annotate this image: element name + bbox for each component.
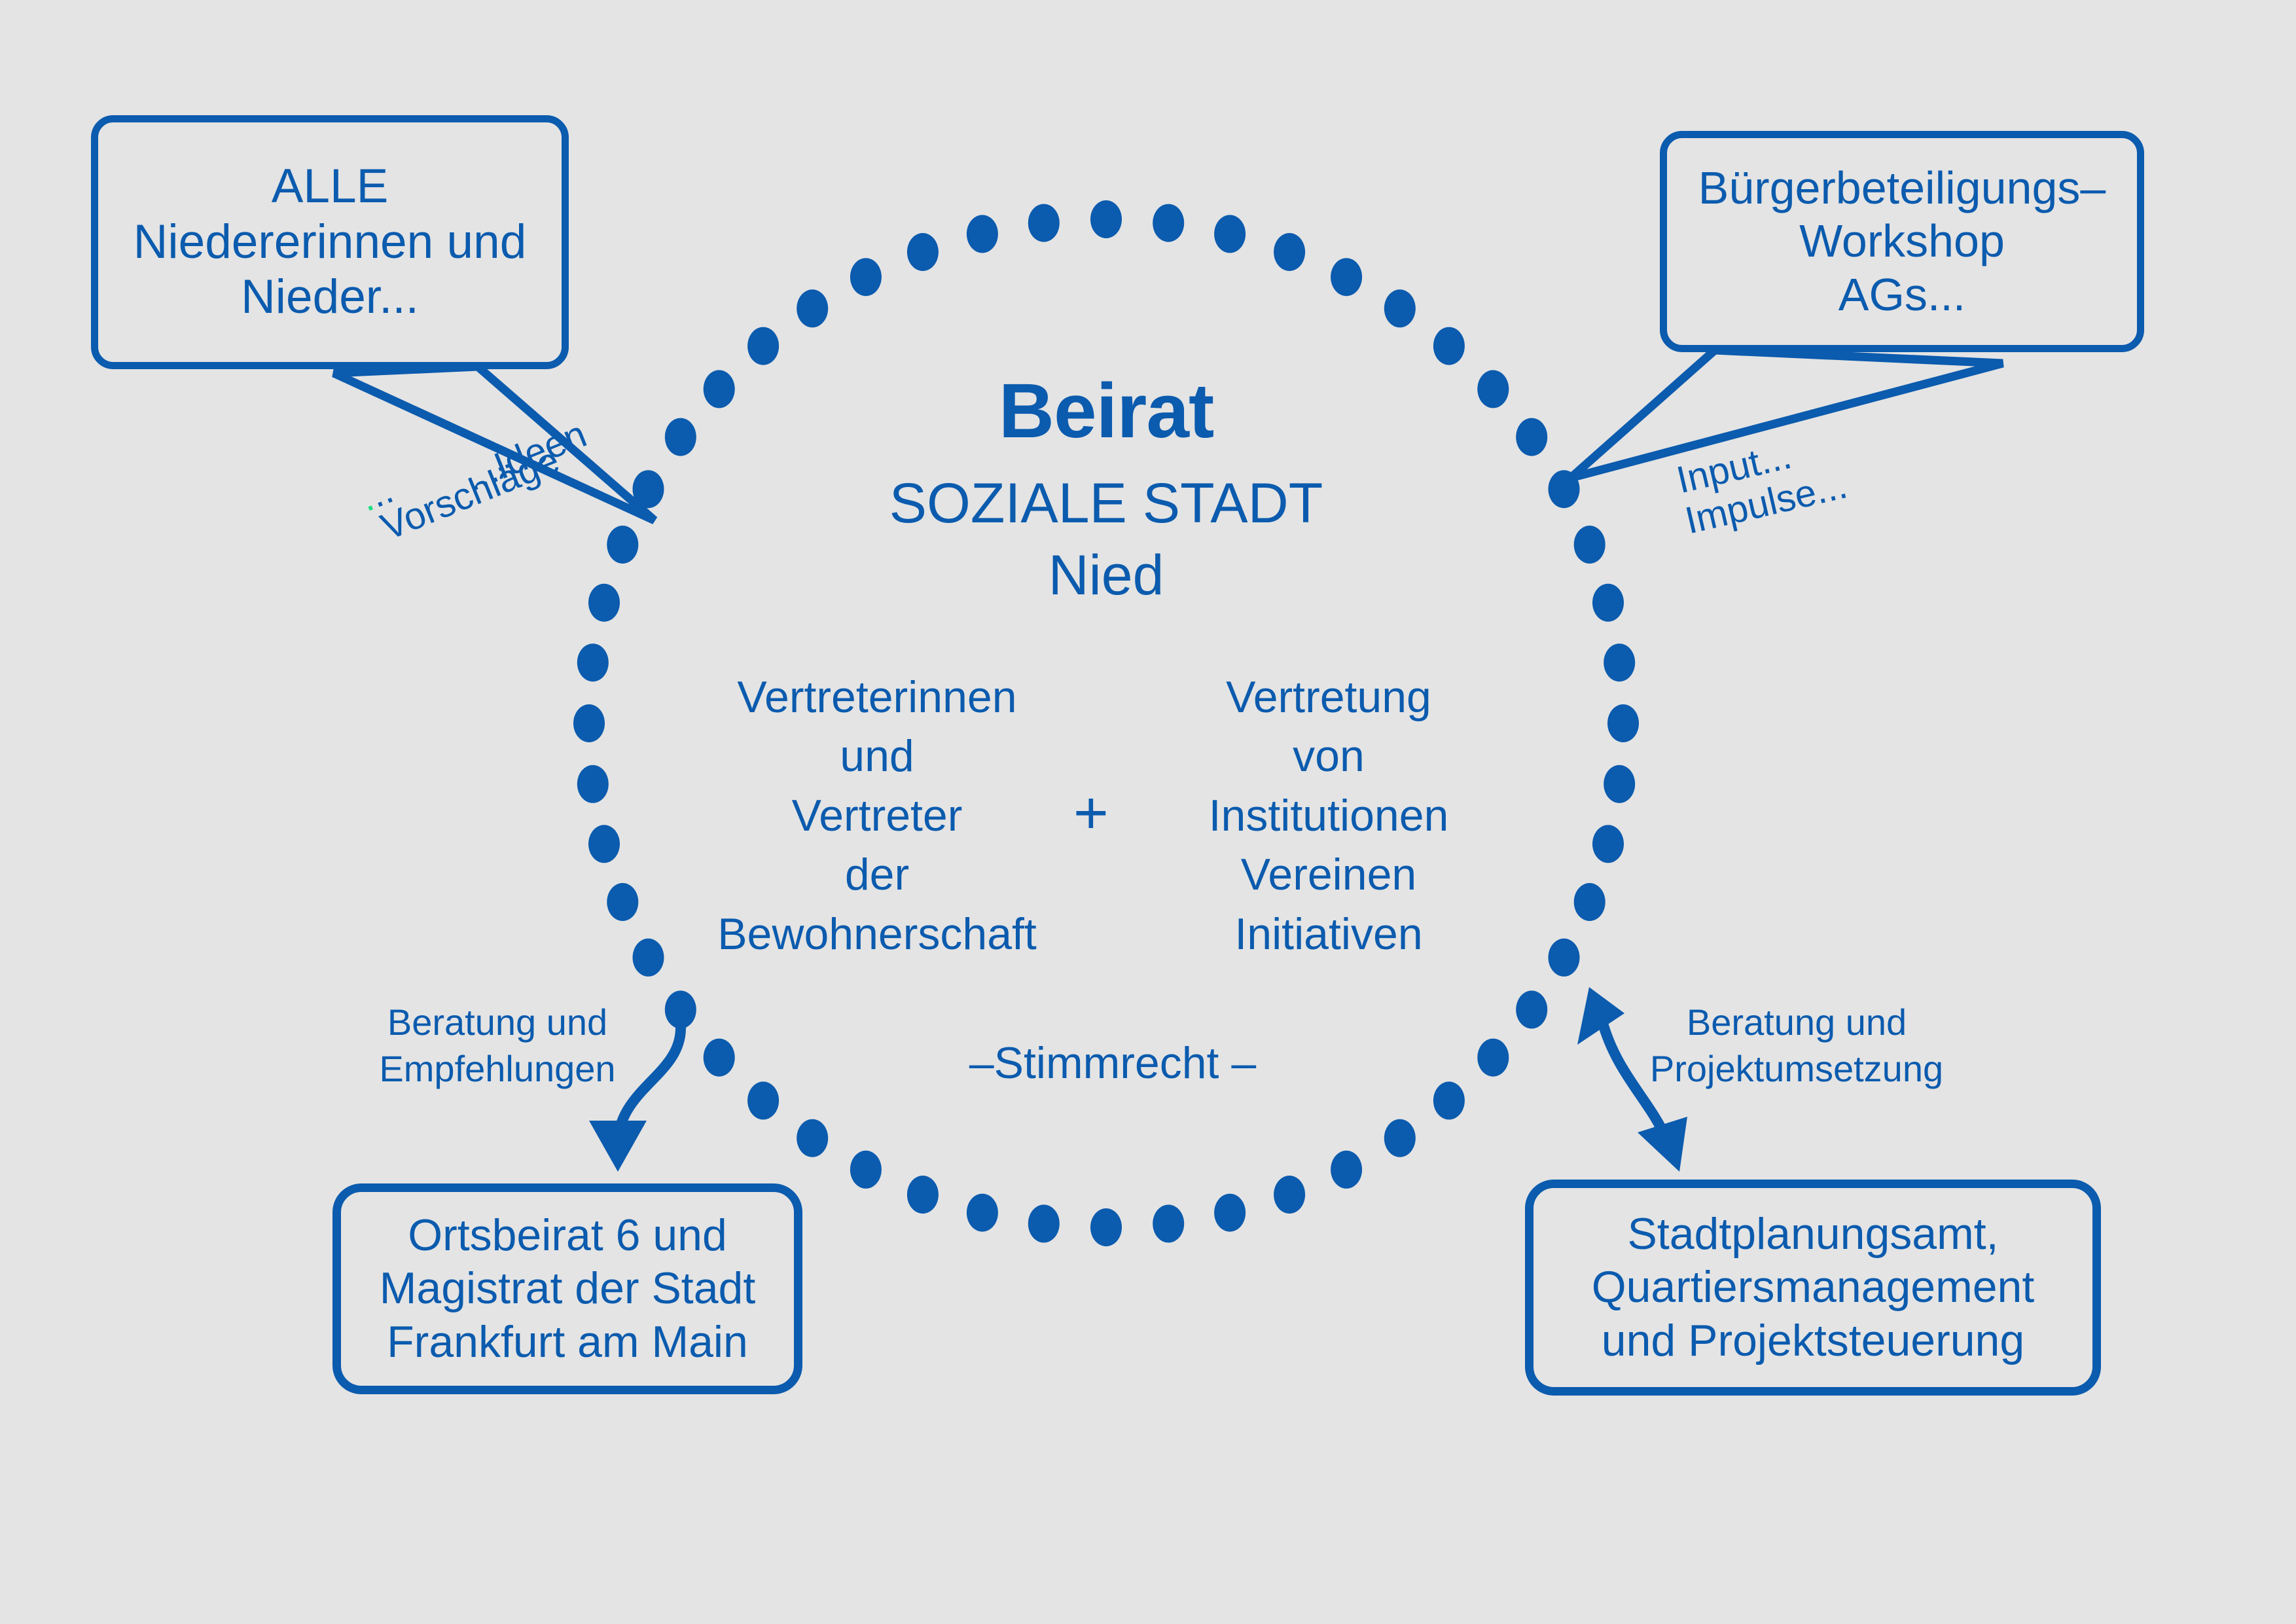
circle-dot	[1592, 825, 1624, 863]
speech-bubble-residents[interactable]: ALLE Niedererinnen und Nieder...	[91, 115, 569, 369]
circle-dot	[1153, 1204, 1184, 1242]
circle-dot	[665, 418, 696, 456]
left-column-line-1: und	[694, 727, 1060, 785]
arrow-beratung-projektumsetzung-head-down	[1638, 1117, 1687, 1172]
circle-dot	[797, 1119, 828, 1157]
circle-dot	[573, 704, 605, 742]
box-ortsbeirat-line1: Ortsbeirat 6 und	[408, 1210, 727, 1260]
annotation-beratung-empfehlungen-line1: Beratung und	[367, 1000, 628, 1046]
box-stadtplanung-text: Stadtplanungsamt, Quartiersmanagement un…	[1592, 1208, 2035, 1368]
circle-dot	[1331, 1151, 1362, 1189]
arrow-beratung-empfehlungen-head	[589, 1121, 647, 1172]
box-ortsbeirat-magistrat[interactable]: Ortsbeirat 6 und Magistrat der Stadt Fra…	[332, 1183, 802, 1394]
left-column-line-0: Vertreterinnen	[694, 668, 1060, 727]
box-stadtplanungsamt[interactable]: Stadtplanungsamt, Quartiersmanagement un…	[1525, 1180, 2101, 1396]
left-column-line-4: Bewohnerschaft	[694, 905, 1060, 964]
circle-dot	[850, 1151, 882, 1189]
box-ortsbeirat-line3: Frankfurt am Main	[387, 1317, 748, 1367]
annotation-beratung-empfehlungen: Beratung und Empfehlungen	[367, 1000, 628, 1092]
circle-dot	[1433, 327, 1465, 365]
circle-dot	[633, 939, 664, 977]
plus-operator: +	[1073, 783, 1109, 843]
center-subtitle: SOZIALE STADT	[805, 471, 1407, 536]
circle-dot	[747, 327, 779, 365]
annotation-beratung-projektumsetzung-line2: Projektumsetzung	[1643, 1046, 1950, 1092]
center-location: Nied	[870, 543, 1342, 608]
circle-dot	[1477, 1039, 1509, 1077]
circle-dot	[1090, 1208, 1122, 1246]
speech-bubble-participation[interactable]: Bürgerbeteiligungs– Workshop AGs...	[1660, 131, 2144, 352]
circle-dot	[967, 1194, 998, 1232]
circle-dot	[907, 233, 939, 271]
box-stadtplanung-line2: Quartiersmanagement	[1592, 1262, 2035, 1312]
circle-dot	[588, 584, 620, 622]
circle-dot	[1028, 1204, 1060, 1242]
circle-dot	[1028, 204, 1060, 242]
right-column-line-0: Vertretung	[1165, 668, 1492, 727]
box-ortsbeirat-text: Ortsbeirat 6 und Magistrat der Stadt Fra…	[380, 1209, 755, 1369]
annotation-beratung-empfehlungen-line2: Empfehlungen	[367, 1046, 628, 1092]
circle-dot	[850, 258, 882, 296]
circle-dot	[704, 1039, 735, 1077]
right-column-line-3: Vereinen	[1165, 845, 1492, 904]
arrow-beratung-projektumsetzung-head-up	[1577, 987, 1624, 1045]
circle-dot	[967, 215, 998, 253]
circle-dot	[1433, 1081, 1465, 1119]
annotation-beratung-projektumsetzung: Beratung und Projektumsetzung	[1643, 1000, 1950, 1092]
circle-dot	[747, 1081, 779, 1119]
circle-dot	[577, 643, 609, 681]
box-stadtplanung-line1: Stadtplanungsamt,	[1627, 1209, 1998, 1259]
center-left-column: Vertreterinnen und Vertreter der Bewohne…	[694, 668, 1060, 964]
circle-dot	[1574, 883, 1605, 921]
circle-dot	[797, 289, 828, 327]
right-column-line-4: Initiativen	[1165, 905, 1492, 964]
diagram-canvas: ALLE Niedererinnen und Nieder... Bürgerb…	[0, 0, 2296, 1624]
circle-dot	[907, 1176, 939, 1214]
circle-dot	[1607, 704, 1639, 742]
bubble-left-line2: Niedererinnen und	[134, 215, 527, 268]
box-stadtplanung-line3: und Projektsteuerung	[1602, 1316, 2024, 1365]
circle-dot	[1153, 204, 1184, 242]
circle-dot	[588, 825, 620, 863]
circle-dot	[1274, 1176, 1305, 1214]
circle-dot	[1384, 1119, 1416, 1157]
center-right-column: Vertretung von Institutionen Vereinen In…	[1165, 668, 1492, 964]
circle-dot	[1274, 233, 1305, 271]
circle-dot	[1604, 643, 1635, 681]
bubble-right-line1: Bürgerbeteiligungs–	[1698, 162, 2106, 213]
circle-dot	[1331, 258, 1362, 296]
circle-dot	[1477, 370, 1509, 408]
circle-dot	[1516, 990, 1547, 1028]
circle-dot	[1549, 939, 1580, 977]
left-column-line-3: der	[694, 845, 1060, 904]
bubble-right-line2: Workshop	[1799, 215, 2005, 266]
circle-dot	[1384, 289, 1416, 327]
circle-dot	[1214, 1194, 1246, 1232]
center-title: Beirat	[870, 367, 1342, 456]
circle-dot	[1516, 418, 1547, 456]
center-footer-stimmrecht: –Stimmrecht –	[903, 1038, 1322, 1089]
speech-bubble-participation-text: Bürgerbeteiligungs– Workshop AGs...	[1667, 162, 2137, 321]
bubble-left-line1: ALLE	[272, 160, 389, 213]
right-column-line-2: Institutionen	[1165, 786, 1492, 845]
circle-dot	[1214, 215, 1246, 253]
circle-dot	[1090, 200, 1122, 238]
circle-dot	[577, 765, 609, 803]
circle-dot	[1574, 526, 1605, 564]
annotation-beratung-projektumsetzung-line1: Beratung und	[1643, 1000, 1950, 1046]
right-column-line-1: von	[1165, 727, 1492, 785]
circle-dot	[1592, 584, 1624, 622]
circle-dot	[607, 526, 638, 564]
circle-dot	[1604, 765, 1635, 803]
circle-dot	[607, 883, 638, 921]
speech-bubble-residents-text: ALLE Niedererinnen und Nieder...	[98, 159, 562, 325]
box-ortsbeirat-line2: Magistrat der Stadt	[380, 1263, 755, 1313]
left-column-line-2: Vertreter	[694, 786, 1060, 845]
bubble-right-line3: AGs...	[1839, 269, 1965, 320]
bubble-left-line3: Nieder...	[241, 270, 419, 323]
circle-dot	[704, 370, 735, 408]
